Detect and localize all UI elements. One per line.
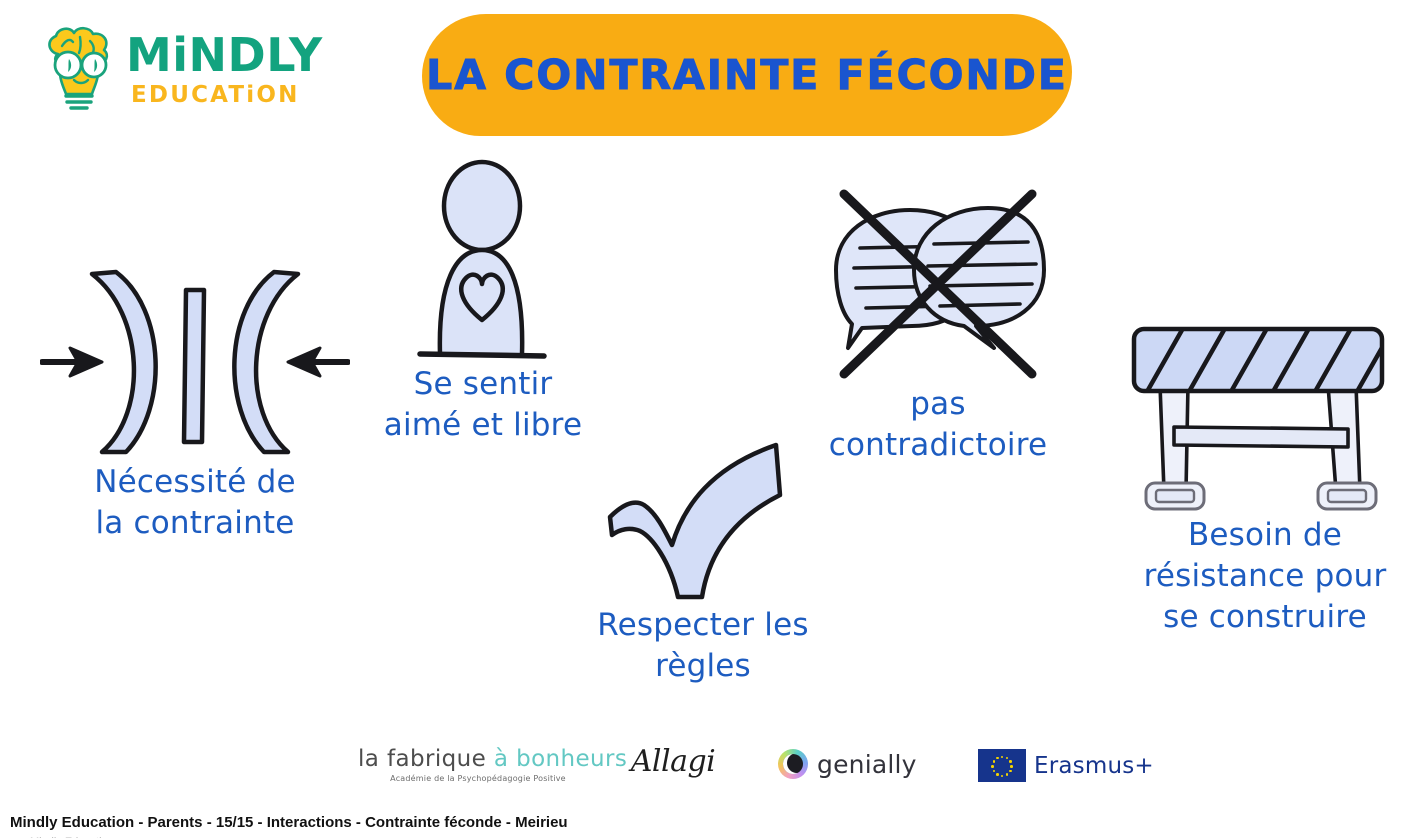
brand-logo: MiNDLY EDUCATiON [38,22,313,118]
concept-caption-need-resistance: Besoin de résistance pour se construire [1120,515,1410,638]
partner-genially: genially [778,749,958,779]
caption-line: pas [808,384,1068,425]
crossed-out-speech-bubbles-icon [808,188,1068,384]
concept-caption-constraint: Nécessité de la contrainte [40,462,350,544]
partner-erasmus-plus: Erasmus+ [978,749,1178,782]
eu-flag-icon [978,749,1026,782]
partner-name-part1: la fabrique [358,746,494,772]
concept-caption-not-contradictory: pas contradictoire [808,384,1068,466]
partner-logos: la fabrique à bonheurs Académie de la Ps… [0,735,1416,805]
concept-item-not-contradictory: pas contradictoire [808,188,1068,466]
caption-line: Besoin de [1120,515,1410,556]
partner-allagi: Allagi [628,747,718,777]
concept-item-respect-rules: Respecter les règles [578,425,828,687]
checkmark-icon [578,425,828,605]
person-with-heart-icon [358,158,608,364]
caption-line: la contrainte [40,503,350,544]
caption-line: contradictoire [808,425,1068,466]
concept-item-need-resistance: Besoin de résistance pour se construire [1120,315,1410,638]
partner-name: Allagi [628,747,718,777]
concept-caption-loved-and-free: Se sentir aimé et libre [358,364,608,446]
brand-name: MiNDLY [126,32,323,78]
eu-stars [992,756,1012,776]
genially-circle-logo-icon [778,749,808,779]
concept-item-loved-and-free: Se sentir aimé et libre [358,158,608,446]
caption-line: résistance pour [1120,556,1410,597]
caption-line: Respecter les [578,605,828,646]
caption-bar: Mindly Education - Parents - 15/15 - Int… [0,812,1416,838]
brand-tagline: EDUCATiON [131,84,300,107]
page-title: LA CONTRAINTE FÉCONDE [422,14,1072,136]
caption-line: règles [578,646,828,687]
partner-name: la fabrique à bonheurs [358,747,598,771]
caption-line: Se sentir [358,364,608,405]
caption-line: Nécessité de [40,462,350,503]
partner-name: genially [817,750,917,779]
caption-line: se construire [1120,597,1410,638]
road-barrier-icon [1120,315,1410,515]
partner-name: Erasmus+ [1034,753,1154,779]
partner-name-accent: à bonheurs [494,746,627,772]
slide-canvas: MiNDLY EDUCATiON LA CONTRAINTE FÉCONDE [0,0,1416,812]
concept-item-constraint: Nécessité de la contrainte [40,262,350,544]
lightbulb-brain-character-icon [38,24,122,116]
compression-arrows-icon [40,262,350,462]
caption-primary: Mindly Education - Parents - 15/15 - Int… [10,814,568,831]
caption-line: aimé et libre [358,405,608,446]
title-blob: LA CONTRAINTE FÉCONDE [422,14,1072,136]
partner-subtitle: Académie de la Psychopédagogie Positive [358,774,598,783]
concept-caption-respect-rules: Respecter les règles [578,605,828,687]
partner-la-fabrique-a-bonheurs: la fabrique à bonheurs Académie de la Ps… [358,747,598,783]
